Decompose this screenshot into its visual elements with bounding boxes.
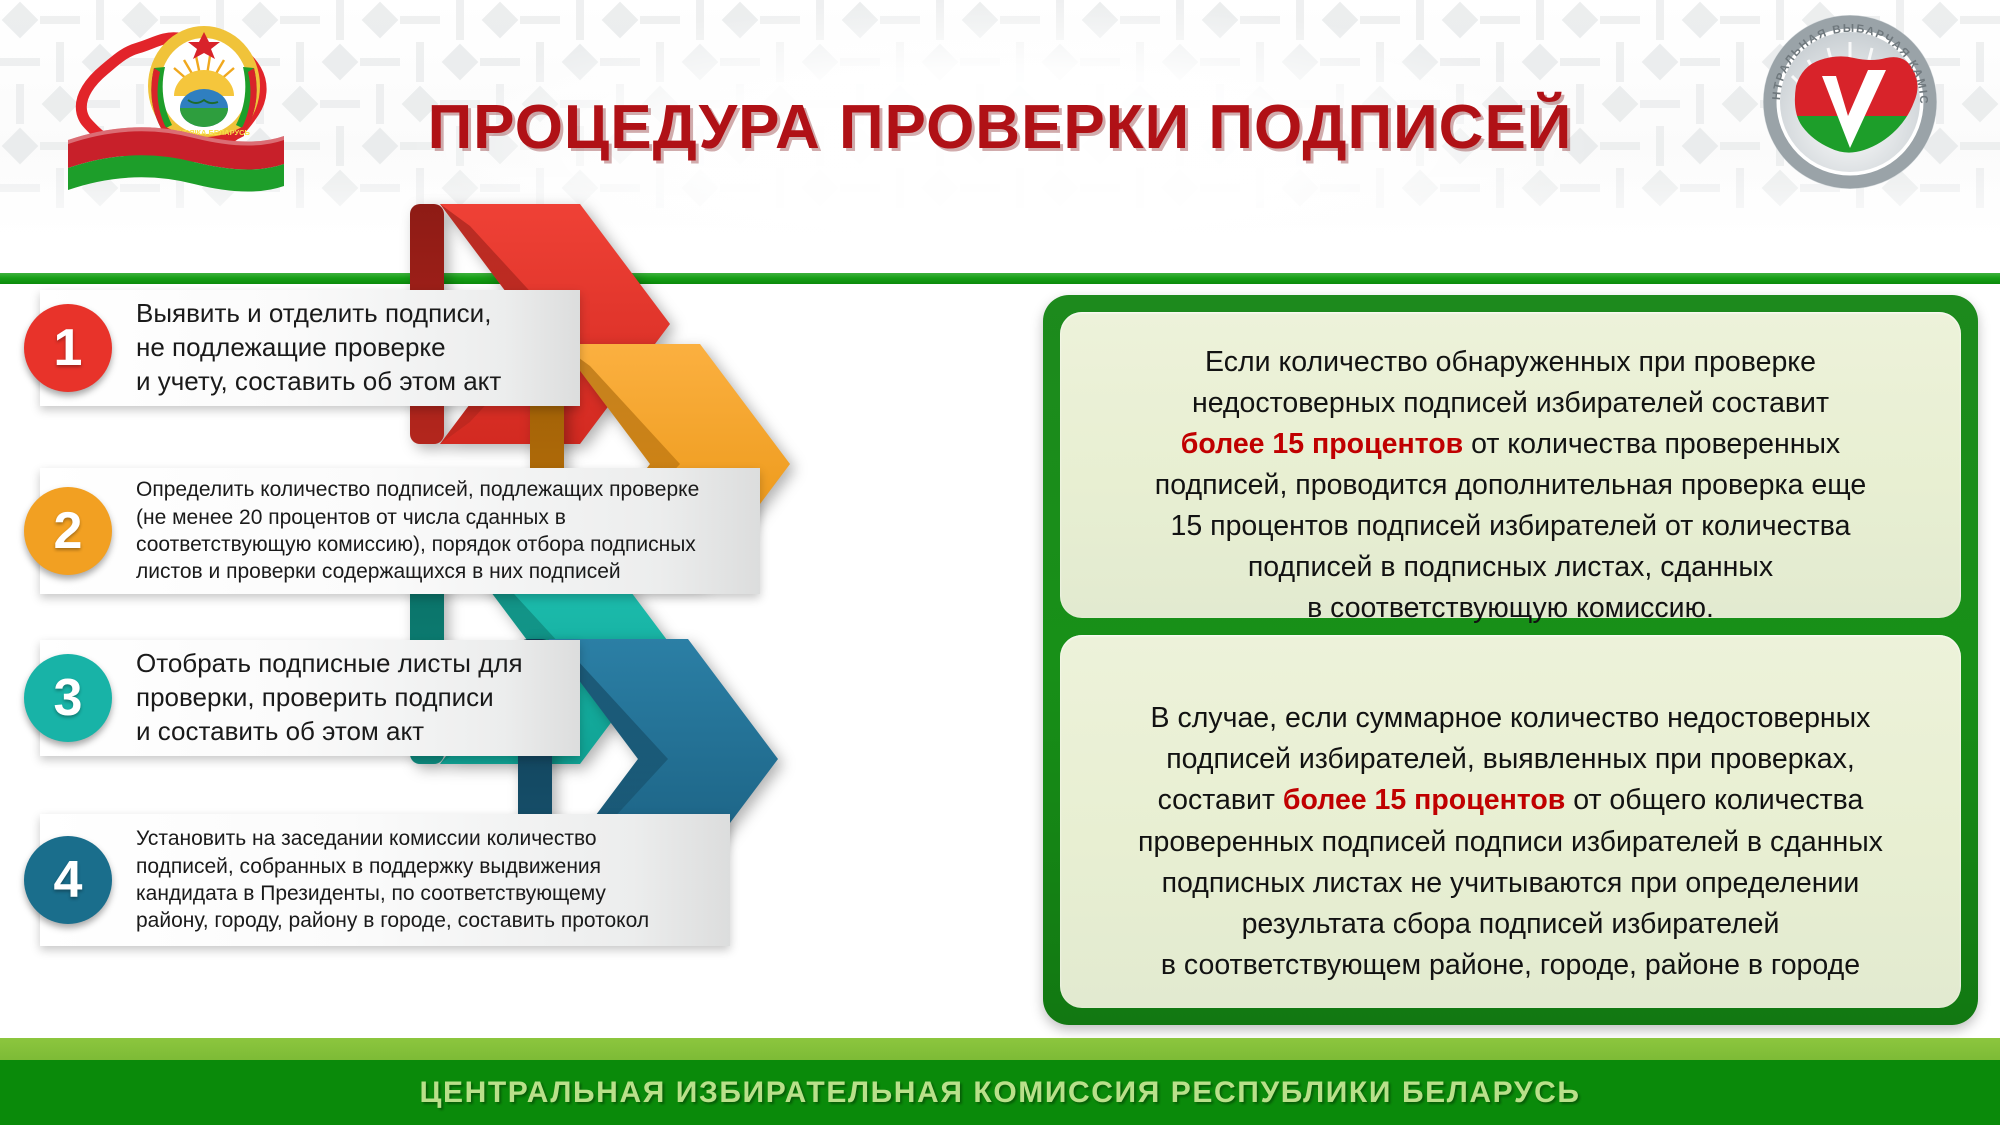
note-1-part1: Если количество обнаруженных при проверк… [1192, 346, 1829, 419]
page-title: ПРОЦЕДУРА ПРОВЕРКИ ПОДПИСЕЙ [0, 92, 2000, 163]
step-number-badge-2: 2 [24, 487, 112, 575]
note-box-1: Если количество обнаруженных при проверк… [1060, 312, 1961, 618]
step-item-1[interactable]: 1 Выявить и отделить подписи, не подлежа… [40, 290, 580, 406]
step-number-badge-3: 3 [24, 654, 112, 742]
notes-panel: Если количество обнаруженных при проверк… [1043, 295, 1978, 1025]
note-text-2: В случае, если суммарное количество недо… [1138, 657, 1883, 985]
poster-header: РЭСПУБЛІКА БЕЛАРУСЬ [0, 0, 2000, 268]
header-green-divider [0, 273, 2000, 284]
step-plate-4: 4 Установить на заседании комиссии колич… [40, 814, 730, 946]
steps-column: 1 Выявить и отделить подписи, не подлежа… [0, 284, 1055, 1040]
step-plate-1: 1 Выявить и отделить подписи, не подлежа… [40, 290, 580, 406]
step-text-4: Установить на заседании комиссии количес… [136, 825, 667, 934]
step-text-3: Отобрать подписные листы для проверки, п… [136, 647, 541, 748]
note-text-1: Если количество обнаруженных при проверк… [1155, 301, 1866, 629]
step-plate-2: 2 Определить количество подписей, подлеж… [40, 468, 760, 594]
infographic-poster: РЭСПУБЛІКА БЕЛАРУСЬ [0, 0, 2000, 1125]
step-item-3[interactable]: 3 Отобрать подписные листы для проверки,… [40, 640, 580, 756]
step-plate-3: 3 Отобрать подписные листы для проверки,… [40, 640, 580, 756]
step-number-badge-1: 1 [24, 304, 112, 392]
note-2-highlight: более 15 процентов [1283, 784, 1565, 816]
step-item-2[interactable]: 2 Определить количество подписей, подлеж… [40, 468, 760, 594]
step-text-1: Выявить и отделить подписи, не подлежащи… [136, 297, 519, 398]
step-item-4[interactable]: 4 Установить на заседании комиссии колич… [40, 814, 730, 946]
footer-organization-name: ЦЕНТРАЛЬНАЯ ИЗБИРАТЕЛЬНАЯ КОМИССИЯ РЕСПУ… [419, 1076, 1580, 1110]
footer-bar: ЦЕНТРАЛЬНАЯ ИЗБИРАТЕЛЬНАЯ КОМИССИЯ РЕСПУ… [0, 1060, 2000, 1125]
footer-accent-strip [0, 1038, 2000, 1060]
note-box-2: В случае, если суммарное количество недо… [1060, 635, 1961, 1008]
step-number-badge-4: 4 [24, 836, 112, 924]
note-1-highlight: более 15 процентов [1181, 428, 1463, 460]
step-text-2: Определить количество подписей, подлежащ… [136, 476, 717, 585]
